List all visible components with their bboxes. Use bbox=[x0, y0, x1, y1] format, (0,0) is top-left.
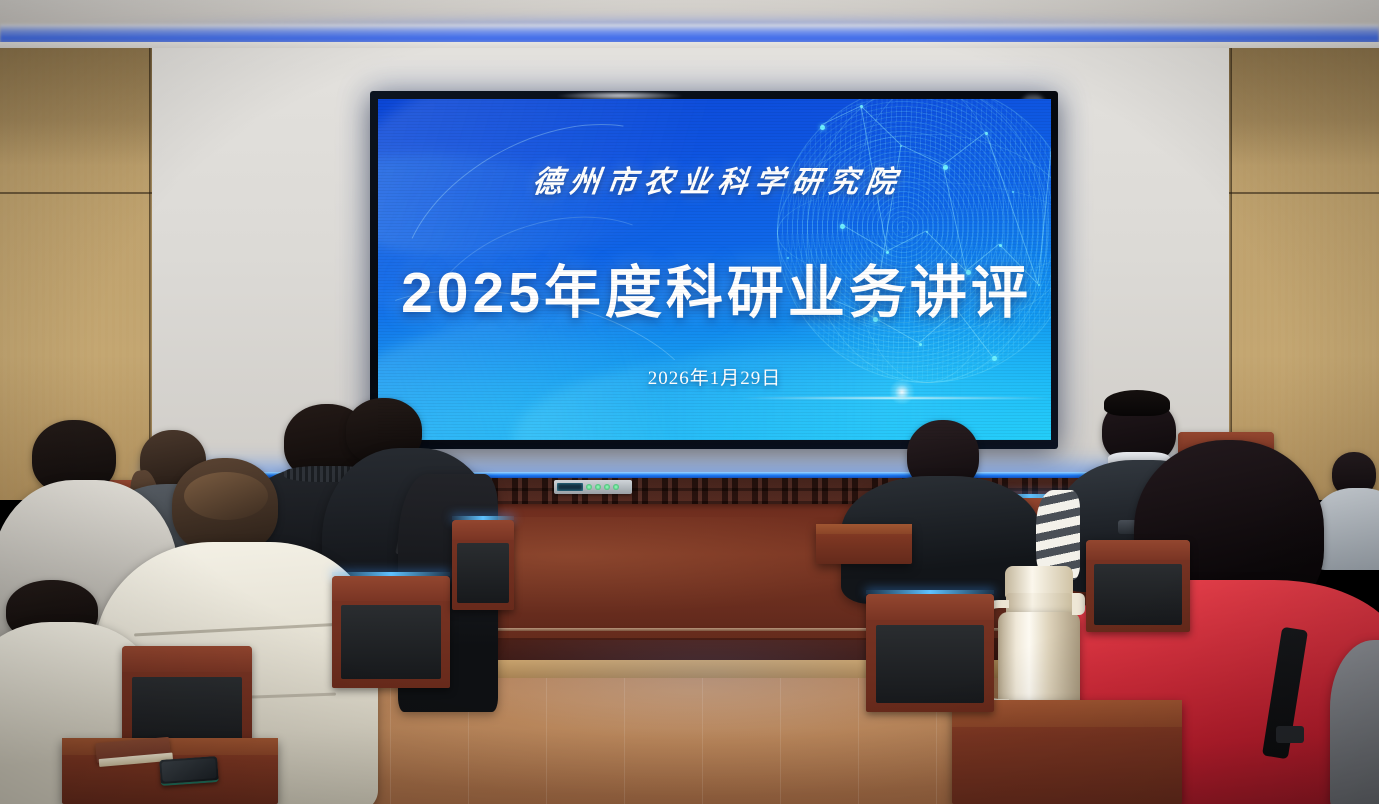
presentation-slide: 德州市农业科学研究院 2025年度科研业务讲评 2026年1月29日 bbox=[378, 99, 1051, 440]
status-led-icon bbox=[595, 484, 601, 490]
control-panel-lcd-icon bbox=[557, 483, 583, 491]
slide-text-layer: 德州市农业科学研究院 2025年度科研业务讲评 2026年1月29日 bbox=[378, 99, 1051, 440]
hair-bun bbox=[184, 472, 268, 520]
status-led-icon bbox=[604, 484, 610, 490]
desk bbox=[952, 700, 1182, 804]
chair-back[interactable] bbox=[866, 594, 994, 712]
flask-spout bbox=[1072, 593, 1085, 616]
led-display-frame[interactable]: 德州市农业科学研究院 2025年度科研业务讲评 2026年1月29日 bbox=[370, 91, 1058, 449]
smartphone[interactable] bbox=[159, 756, 219, 786]
organization-name: 德州市农业科学研究院 bbox=[378, 157, 1051, 201]
hair-clip-icon bbox=[1104, 390, 1170, 416]
slide-title: 2025年度科研业务讲评 bbox=[378, 247, 1051, 329]
chair-back[interactable] bbox=[452, 520, 514, 610]
status-led-icon bbox=[586, 484, 592, 490]
panel-seam bbox=[1229, 192, 1379, 194]
attendee-grey-back-right bbox=[1330, 640, 1379, 804]
chair-back[interactable] bbox=[1086, 540, 1190, 632]
chair-back[interactable] bbox=[332, 576, 450, 688]
hoodie-buckle bbox=[1276, 726, 1304, 743]
desk bbox=[816, 524, 912, 564]
control-panel-device[interactable] bbox=[554, 480, 632, 494]
panel-seam bbox=[0, 192, 152, 194]
slide-date: 2026年1月29日 bbox=[378, 363, 1051, 390]
status-led-icon bbox=[613, 484, 619, 490]
conference-room-scene: 德州市农业科学研究院 2025年度科研业务讲评 2026年1月29日 bbox=[0, 0, 1379, 804]
